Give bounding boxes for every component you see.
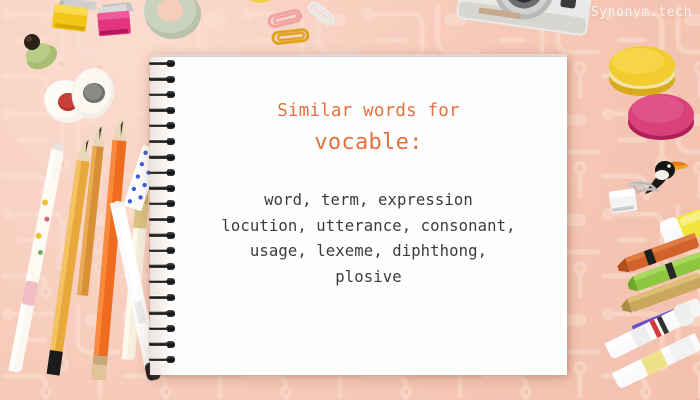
spiral-ring [147,263,178,270]
synonym-line: word, term, expression [176,188,561,214]
washi-tape-roll [140,0,206,44]
synonym-line: usage, lexeme, diphthong, [176,239,561,265]
notebook-page: Similar words for vocable: word, term, e… [150,57,567,375]
sticker-yellow [243,0,277,12]
binder-clip-white [606,180,662,222]
synonym-line: locution, utterance, consonant, [176,214,561,240]
paper-clip-white [303,2,337,28]
paper-clip-gold [270,26,312,48]
macaron-pink [625,82,700,144]
spiral-ring [147,138,178,145]
spiral-ring [147,169,178,176]
notebook-spiral-binding [147,60,181,372]
spiral-ring [147,247,178,254]
spiral-ring [147,278,178,285]
camera [452,0,602,53]
spiral-ring [147,294,178,301]
spiral-ring [147,341,178,348]
spiral-ring [147,76,178,83]
spiral-ring [147,232,178,239]
spiral-ring [147,200,178,207]
spiral-ring [147,60,178,67]
spiral-ring [147,356,178,363]
synonym-line: plosive [176,265,561,291]
marker-yellow-band [608,318,700,400]
synonym-list: word, term, expression locution, utteran… [176,188,561,290]
spiral-ring [147,310,178,317]
spiral-ring [147,185,178,192]
binder-clip-pink [92,2,144,44]
spiral-ring [147,154,178,161]
stone-eraser-grey [68,66,118,120]
page-title: Similar words for [176,101,561,121]
query-word: vocable: [176,130,561,155]
notebook-content: Similar words for vocable: word, term, e… [176,57,561,290]
spiral-ring [147,107,178,114]
spiral-ring [147,122,178,129]
bird-figurine [18,33,60,71]
spiral-ring [147,325,178,332]
spiral-ring [147,91,178,98]
spiral-ring [147,216,178,223]
site-watermark: Synonym.tech [591,5,692,20]
